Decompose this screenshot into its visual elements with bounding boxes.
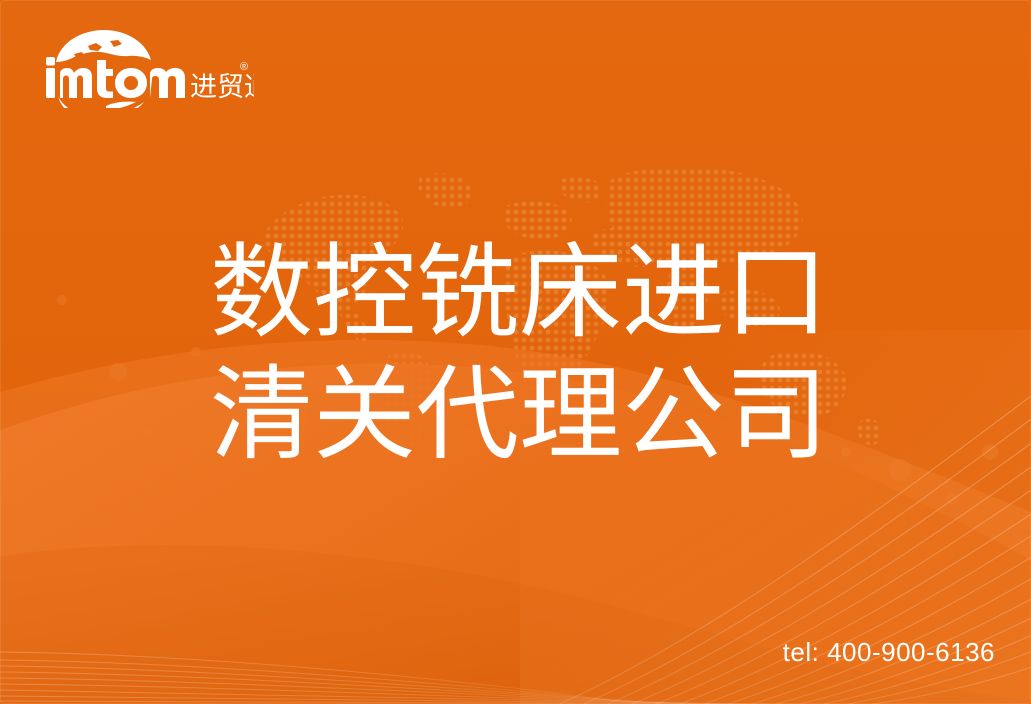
title-line-2: 清关代理公司	[210, 354, 850, 476]
title-line-1: 数控铣床进口	[210, 232, 850, 354]
brand-logo[interactable]: 进贸通 ®	[44, 26, 254, 108]
page-title: 数控铣床进口 清关代理公司	[210, 232, 850, 476]
trademark-symbol: ®	[240, 61, 248, 73]
promo-banner: 进贸通 ® 数控铣床进口 清关代理公司 tel: 400-900-6136	[0, 0, 1031, 704]
logo-chinese-name: 进贸通	[190, 72, 254, 102]
logo-wordmark	[46, 57, 185, 98]
bottom-striations	[0, 652, 800, 704]
contact-phone[interactable]: tel: 400-900-6136	[783, 637, 995, 667]
globe-dome-icon	[56, 30, 151, 62]
wave-dark	[0, 545, 1031, 704]
